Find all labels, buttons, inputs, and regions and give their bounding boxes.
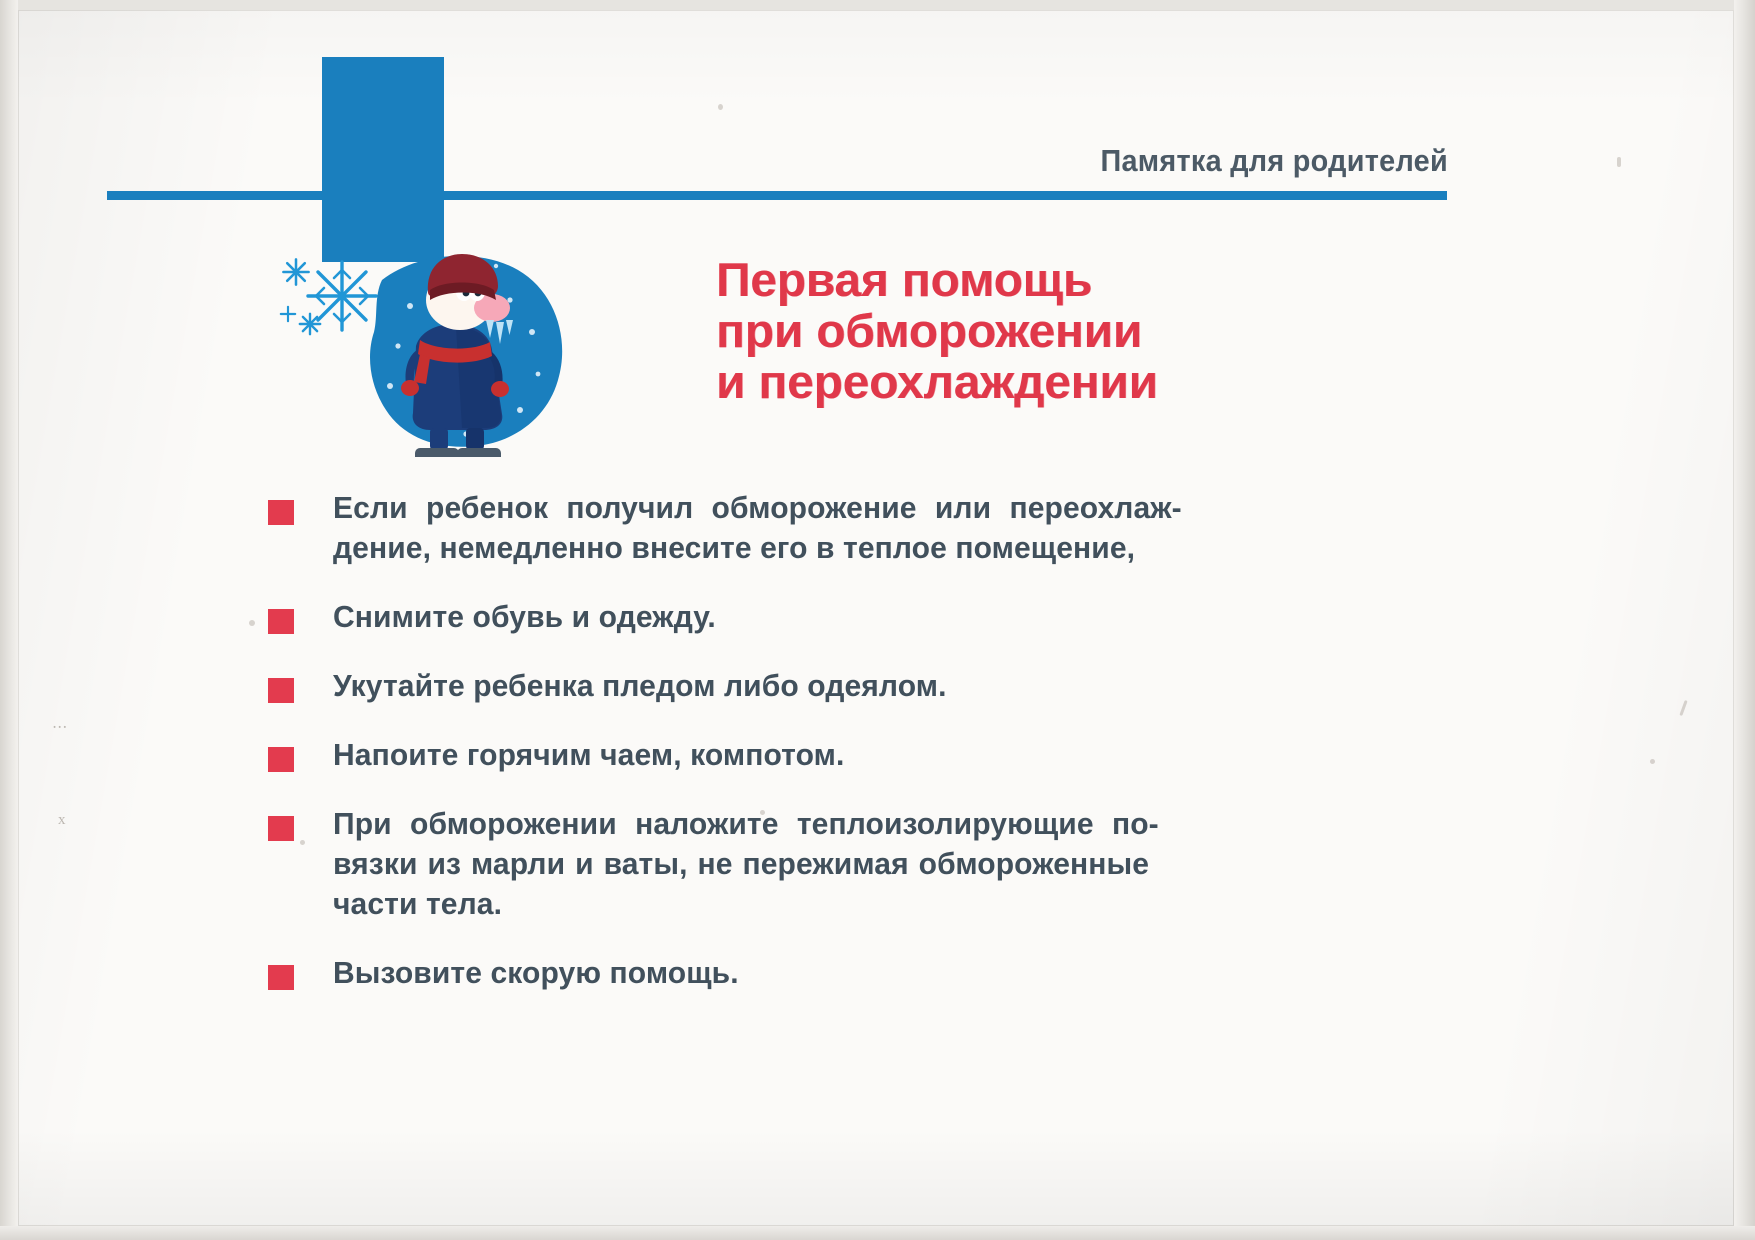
list-item: Если ребенок получил обморожение или пер… bbox=[268, 488, 1398, 568]
square-bullet-icon bbox=[268, 965, 294, 990]
list-item-text: Вызовите скорую помощь. bbox=[333, 953, 1382, 993]
header-title: Памятка для родителей bbox=[752, 143, 1448, 179]
list-item-text: Напоите горячим чаем, компотом. bbox=[333, 735, 1382, 775]
square-bullet-icon bbox=[268, 609, 294, 634]
square-bullet-icon bbox=[268, 747, 294, 772]
title-line-3: и переохлаждении bbox=[716, 356, 1348, 407]
title-line-2: при обморожении bbox=[716, 305, 1348, 356]
square-bullet-icon bbox=[268, 678, 294, 703]
pencil-annotation: x bbox=[58, 812, 66, 829]
snowflake-icon bbox=[281, 259, 376, 334]
square-bullet-icon bbox=[268, 500, 294, 525]
list-item-line: Если ребенок получил обморожение или пер… bbox=[333, 488, 1382, 528]
scan-edge-bottom bbox=[0, 1226, 1755, 1240]
list-item: Укутайте ребенка пледом либо одеялом. bbox=[268, 666, 1398, 706]
list-item: Вызовите скорую помощь. bbox=[268, 953, 1398, 993]
list-item: Снимите обувь и одежду. bbox=[268, 597, 1398, 637]
list-item-text: Снимите обувь и одежду. bbox=[333, 597, 1382, 637]
blue-horizontal-rule bbox=[107, 191, 1447, 200]
square-bullet-icon bbox=[268, 816, 294, 841]
list-item-text: Укутайте ребенка пледом либо одеялом. bbox=[333, 666, 1382, 706]
scan-speck bbox=[300, 840, 305, 845]
list-item-line: При обморожении наложите теплоизолирующи… bbox=[333, 804, 1382, 844]
list-item-line: части тела. bbox=[333, 884, 1382, 924]
list-item-line: дение, немедленно внесите его в теплое п… bbox=[333, 528, 1382, 568]
scan-speck bbox=[760, 810, 765, 815]
list-item-line: вязки из марли и ваты, не пережимая обмо… bbox=[333, 844, 1382, 884]
advice-list: Если ребенок получил обморожение или пер… bbox=[268, 488, 1398, 1022]
scan-edge-top bbox=[0, 0, 1755, 10]
list-item: Напоите горячим чаем, компотом. bbox=[268, 735, 1398, 775]
title-line-1: Первая помощь bbox=[716, 254, 1348, 305]
document-title: Первая помощь при обморожении и переохла… bbox=[716, 254, 1336, 407]
list-item-text: При обморожении наложите теплоизолирующи… bbox=[333, 804, 1382, 924]
scanned-leaflet-page: Памятка для родителей bbox=[0, 0, 1755, 1240]
winter-child-illustration bbox=[270, 228, 600, 468]
scan-edge-left bbox=[0, 0, 18, 1240]
scan-edge-right bbox=[1734, 0, 1755, 1240]
list-item-text: Если ребенок получил обморожение или пер… bbox=[333, 488, 1382, 568]
scan-speck bbox=[1617, 157, 1621, 167]
scan-speck bbox=[718, 104, 723, 110]
scan-speck bbox=[1650, 759, 1655, 764]
list-item: При обморожении наложите теплоизолирующи… bbox=[268, 804, 1398, 924]
scan-speck bbox=[249, 620, 255, 626]
pencil-annotation: ⋅⋅⋅ bbox=[52, 718, 67, 737]
